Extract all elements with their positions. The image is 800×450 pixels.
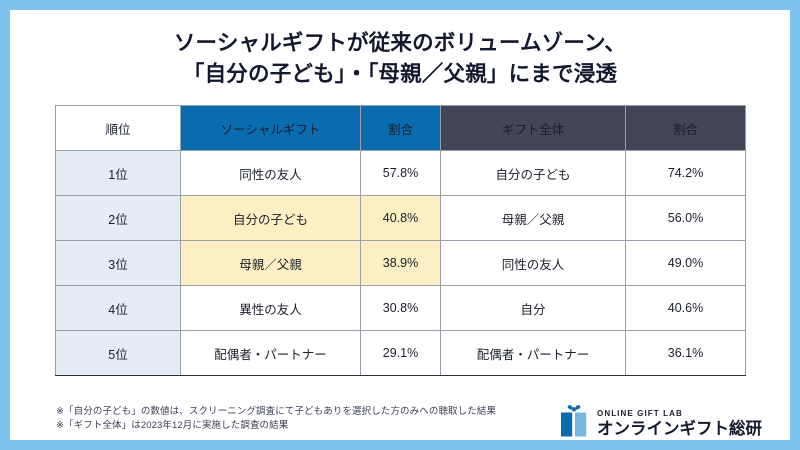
cell-rank: 4位 — [56, 286, 181, 331]
cell-overall-pct: 49.0% — [626, 241, 746, 286]
column-header-social-gift: ソーシャルギフト — [181, 106, 361, 151]
slide-frame: ソーシャルギフトが従来のボリュームゾーン、 「自分の子ども」・「母親／父親」にま… — [0, 0, 800, 450]
gift-box-icon — [559, 404, 589, 443]
table-body: 1位 同性の友人 57.8% 自分の子ども 74.2% 2位 自分の子ども 40… — [56, 151, 746, 376]
cell-overall-pct: 40.6% — [626, 286, 746, 331]
column-header-rank: 順位 — [56, 106, 181, 151]
cell-rank: 1位 — [56, 151, 181, 196]
footnotes: ※「自分の子ども」の数値は、スクリーニング調査にて子どもありを選択した方のみへの… — [56, 405, 496, 433]
cell-social-name: 母親／父親 — [181, 241, 361, 286]
slide-content: ソーシャルギフトが従来のボリュームゾーン、 「自分の子ども」・「母親／父親」にま… — [10, 10, 790, 440]
cell-overall-pct: 56.0% — [626, 196, 746, 241]
cell-overall-pct: 74.2% — [626, 151, 746, 196]
table-row: 5位 配偶者・パートナー 29.1% 配偶者・パートナー 36.1% — [56, 331, 746, 376]
table-row: 1位 同性の友人 57.8% 自分の子ども 74.2% — [56, 151, 746, 196]
table-row: 4位 異性の友人 30.8% 自分 40.6% — [56, 286, 746, 331]
cell-social-pct: 57.8% — [361, 151, 441, 196]
cell-overall-name: 母親／父親 — [441, 196, 626, 241]
cell-rank: 2位 — [56, 196, 181, 241]
logo-text: ONLINE GIFT LAB オンラインギフト総研 — [597, 410, 762, 438]
cell-overall-name: 同性の友人 — [441, 241, 626, 286]
table-header: 順位 ソーシャルギフト 割合 ギフト全体 割合 — [56, 106, 746, 151]
page-title-line-2: 「自分の子ども」・「母親／父親」にまで浸透 — [10, 59, 790, 90]
logo-text-jp: オンラインギフト総研 — [597, 421, 762, 438]
footnote-1: ※「自分の子ども」の数値は、スクリーニング調査にて子どもありを選択した方のみへの… — [56, 405, 496, 419]
cell-social-pct: 29.1% — [361, 331, 441, 376]
cell-rank: 5位 — [56, 331, 181, 376]
cell-social-name: 自分の子ども — [181, 196, 361, 241]
cell-social-name: 同性の友人 — [181, 151, 361, 196]
ranking-table-container: 順位 ソーシャルギフト 割合 ギフト全体 割合 1位 同性の友人 57.8% 自… — [55, 105, 745, 376]
footnote-2: ※「ギフト全体」は2023年12月に実施した調査の結果 — [56, 419, 496, 433]
column-header-social-gift-ratio: 割合 — [361, 106, 441, 151]
page-title-line-1: ソーシャルギフトが従来のボリュームゾーン、 — [10, 28, 790, 59]
table-row: 3位 母親／父親 38.9% 同性の友人 49.0% — [56, 241, 746, 286]
cell-overall-name: 自分 — [441, 286, 626, 331]
brand-logo: ONLINE GIFT LAB オンラインギフト総研 — [559, 404, 762, 443]
cell-social-name: 配偶者・パートナー — [181, 331, 361, 376]
cell-overall-pct: 36.1% — [626, 331, 746, 376]
cell-social-pct: 38.9% — [361, 241, 441, 286]
cell-social-pct: 30.8% — [361, 286, 441, 331]
column-header-overall-gift: ギフト全体 — [441, 106, 626, 151]
column-header-overall-gift-ratio: 割合 — [626, 106, 746, 151]
cell-overall-name: 配偶者・パートナー — [441, 331, 626, 376]
cell-social-name: 異性の友人 — [181, 286, 361, 331]
cell-social-pct: 40.8% — [361, 196, 441, 241]
table-header-row: 順位 ソーシャルギフト 割合 ギフト全体 割合 — [56, 106, 746, 151]
page-title: ソーシャルギフトが従来のボリュームゾーン、 「自分の子ども」・「母親／父親」にま… — [10, 28, 790, 90]
cell-rank: 3位 — [56, 241, 181, 286]
ranking-table: 順位 ソーシャルギフト 割合 ギフト全体 割合 1位 同性の友人 57.8% 自… — [55, 105, 746, 376]
cell-overall-name: 自分の子ども — [441, 151, 626, 196]
table-row: 2位 自分の子ども 40.8% 母親／父親 56.0% — [56, 196, 746, 241]
logo-text-en: ONLINE GIFT LAB — [597, 410, 762, 418]
